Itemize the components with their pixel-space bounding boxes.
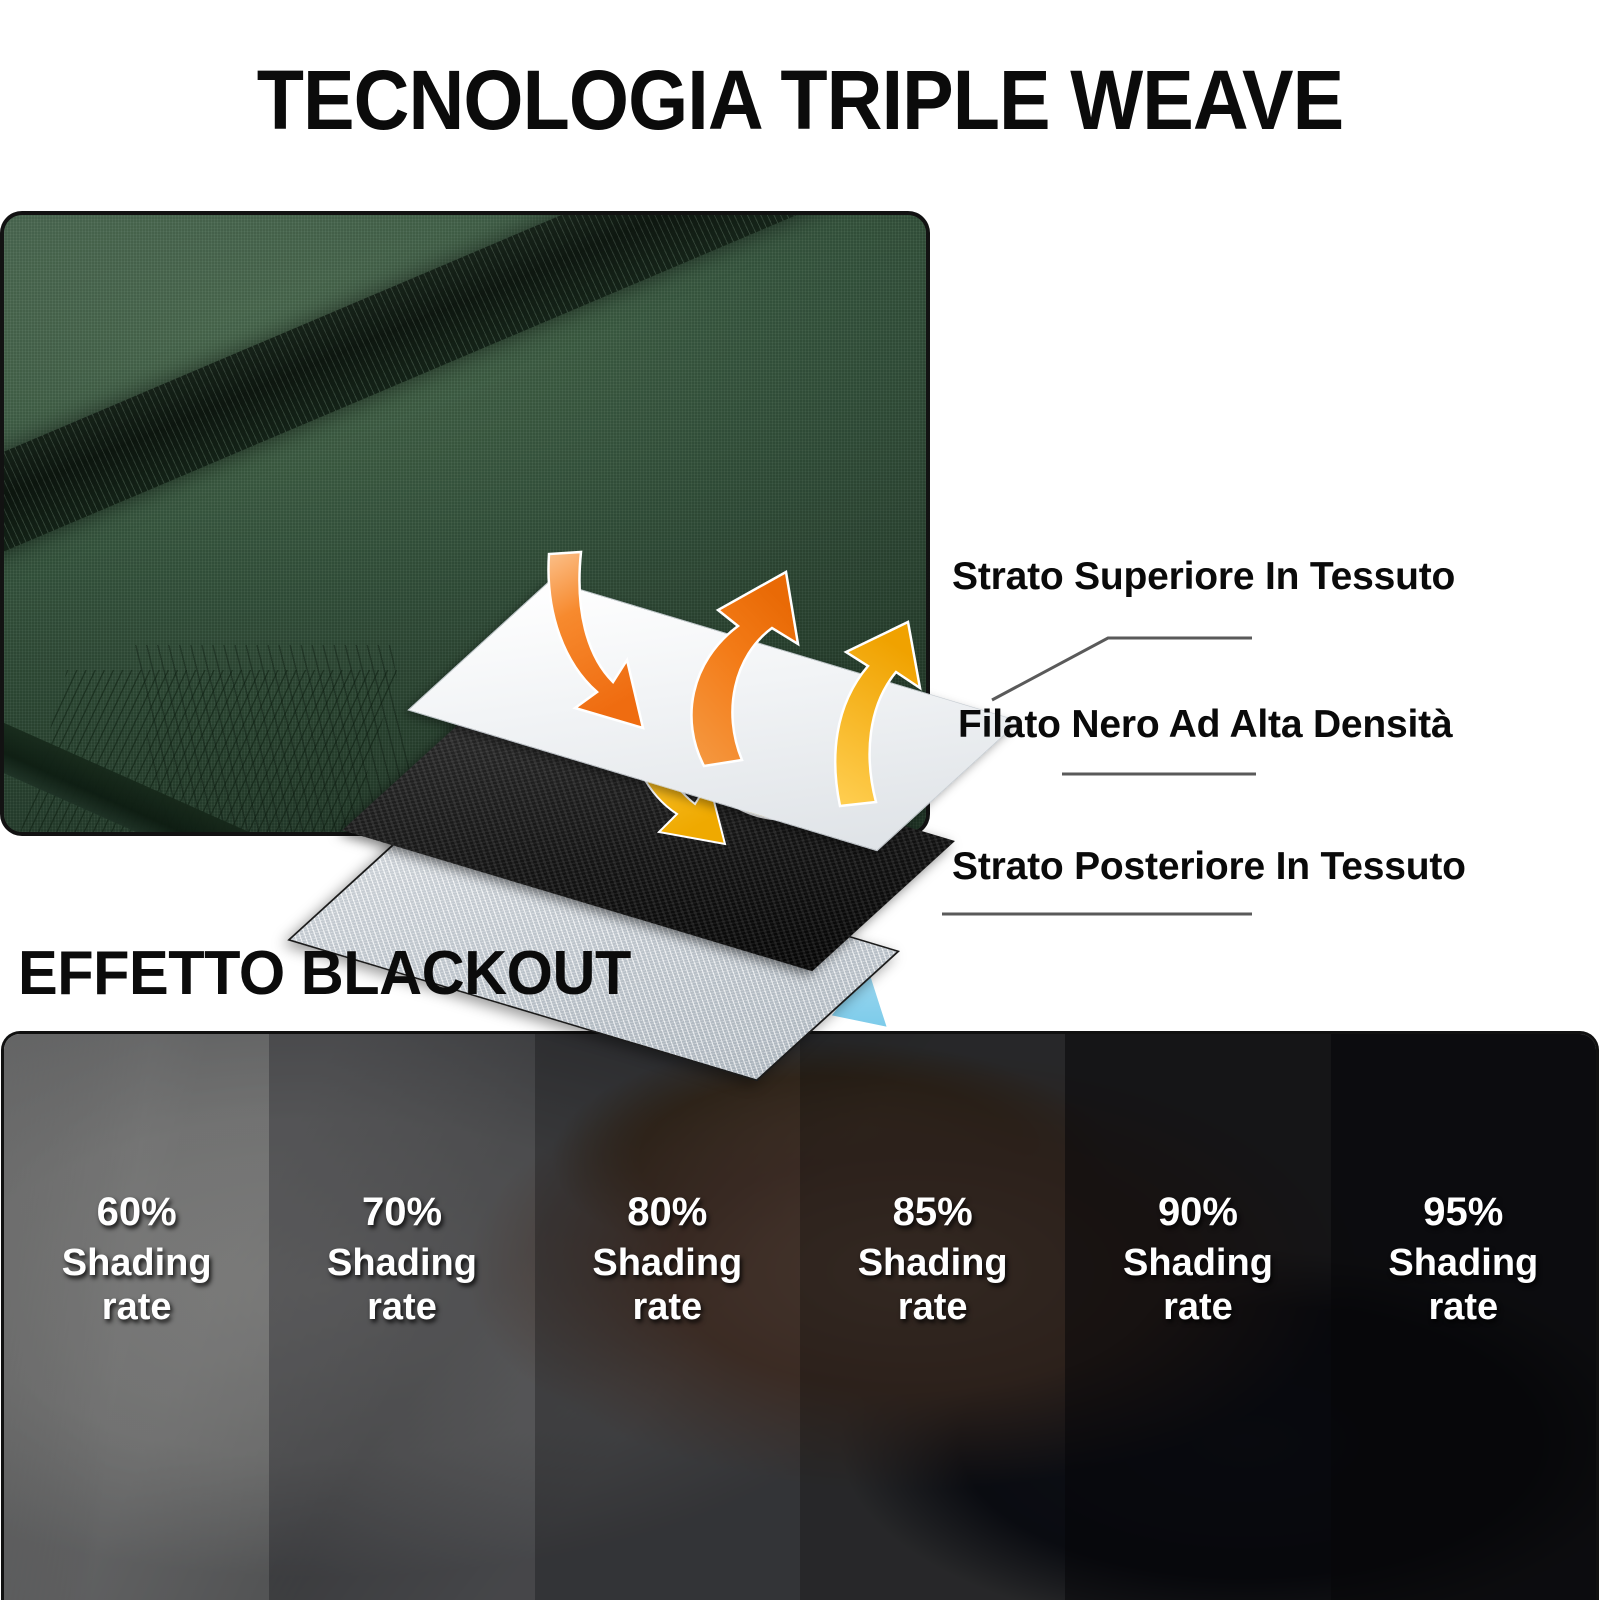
- shading-percent: 85%: [800, 1189, 1065, 1235]
- shading-band-caption: 95%Shadingrate: [1331, 1189, 1596, 1330]
- shading-band-90: 90%Shadingrate: [1065, 1034, 1330, 1600]
- callout-label-bottom-layer: Strato Posteriore In Tessuto: [952, 845, 1466, 889]
- shading-band-95: 95%Shadingrate: [1331, 1034, 1596, 1600]
- shading-band-caption: 60%Shadingrate: [4, 1189, 269, 1330]
- shading-percent: 90%: [1065, 1189, 1330, 1235]
- shading-band-80: 80%Shadingrate: [535, 1034, 800, 1600]
- shading-percent: 80%: [535, 1189, 800, 1235]
- shading-percent: 70%: [269, 1189, 534, 1235]
- callout-label-middle-layer: Filato Nero Ad Alta Densità: [958, 703, 1452, 747]
- shading-rate-label: Shadingrate: [1065, 1241, 1330, 1329]
- shading-percent: 95%: [1331, 1189, 1596, 1235]
- shading-percent: 60%: [4, 1189, 269, 1235]
- shading-band-caption: 90%Shadingrate: [1065, 1189, 1330, 1330]
- section-title-blackout: EFFETTO BLACKOUT: [18, 938, 631, 1009]
- shading-band-60: 60%Shadingrate: [4, 1034, 269, 1600]
- callout-label-top-layer: Strato Superiore In Tessuto: [952, 555, 1455, 599]
- shading-band-caption: 70%Shadingrate: [269, 1189, 534, 1330]
- shading-band-list: 60%Shadingrate70%Shadingrate80%Shadingra…: [4, 1034, 1596, 1600]
- leader-line-bottom-layer: [940, 900, 1260, 930]
- shading-band-85: 85%Shadingrate: [800, 1034, 1065, 1600]
- shading-rate-label: Shadingrate: [269, 1241, 534, 1329]
- shading-band-70: 70%Shadingrate: [269, 1034, 534, 1600]
- leader-line-top-layer: [990, 612, 1260, 702]
- shading-band-caption: 85%Shadingrate: [800, 1189, 1065, 1330]
- light-reflect-2-arrow: [810, 620, 950, 810]
- shading-rate-label: Shadingrate: [4, 1241, 269, 1329]
- page-title: TECNOLOGIA TRIPLE WEAVE: [64, 52, 1536, 149]
- shading-rate-label: Shadingrate: [1331, 1241, 1596, 1329]
- leader-line-middle-layer: [1060, 760, 1260, 790]
- shading-rate-label: Shadingrate: [800, 1241, 1065, 1329]
- shading-rate-label: Shadingrate: [535, 1241, 800, 1329]
- blackout-comparison-strip: 60%Shadingrate70%Shadingrate80%Shadingra…: [4, 1034, 1596, 1600]
- shading-band-caption: 80%Shadingrate: [535, 1189, 800, 1330]
